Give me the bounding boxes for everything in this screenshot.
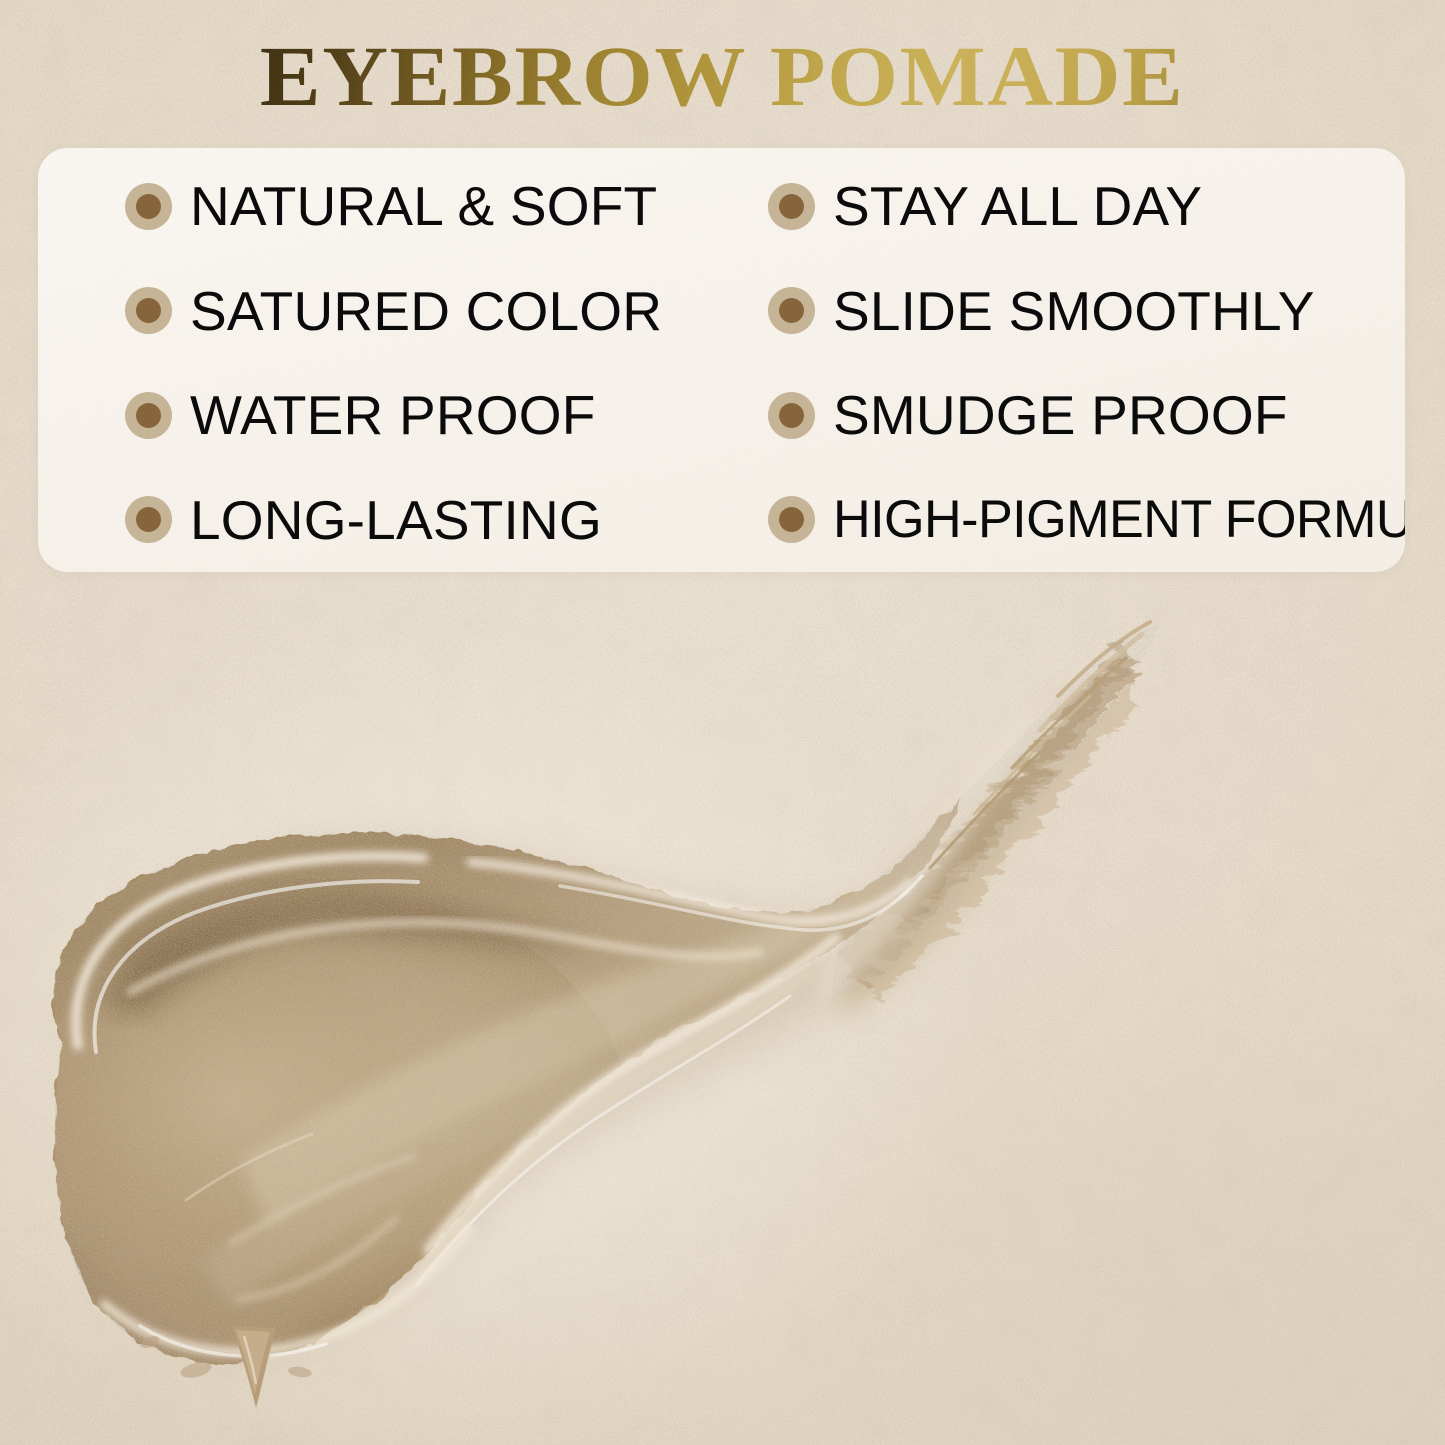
bullet-dot-icon bbox=[125, 183, 172, 230]
feature-label: HIGH-PIGMENT FORMULA bbox=[833, 491, 1405, 549]
bullet-dot-icon bbox=[768, 287, 815, 334]
feature-item-slide-smoothly[interactable]: SLIDE SMOOTHLY bbox=[723, 259, 1405, 364]
feature-item-satured-color[interactable]: SATURED COLOR bbox=[38, 259, 723, 364]
feature-item-long-lasting[interactable]: LONG-LASTING bbox=[38, 468, 723, 573]
bullet-dot-icon bbox=[768, 183, 815, 230]
feature-label: STAY ALL DAY bbox=[833, 177, 1202, 235]
feature-label: LONG-LASTING bbox=[190, 491, 602, 549]
feature-item-natural-and-soft[interactable]: NATURAL & SOFT bbox=[38, 154, 723, 259]
bullet-dot-icon bbox=[125, 392, 172, 439]
feature-item-stay-all-day[interactable]: STAY ALL DAY bbox=[723, 154, 1405, 259]
feature-item-smudge-proof[interactable]: SMUDGE PROOF bbox=[723, 363, 1405, 468]
title-container: EYEBROW POMADE bbox=[0, 22, 1445, 130]
feature-label: SATURED COLOR bbox=[190, 282, 662, 340]
feature-label: SMUDGE PROOF bbox=[833, 386, 1288, 444]
bullet-dot-icon bbox=[768, 392, 815, 439]
bullet-dot-icon bbox=[768, 496, 815, 543]
bullet-dot-icon bbox=[125, 496, 172, 543]
features-grid: NATURAL & SOFT STAY ALL DAY SATURED COLO… bbox=[38, 148, 1405, 572]
feature-label: WATER PROOF bbox=[190, 386, 596, 444]
feature-item-high-pigment-formula[interactable]: HIGH-PIGMENT FORMULA bbox=[723, 468, 1405, 573]
bullet-dot-icon bbox=[125, 287, 172, 334]
features-card: NATURAL & SOFT STAY ALL DAY SATURED COLO… bbox=[38, 148, 1405, 572]
feature-item-water-proof[interactable]: WATER PROOF bbox=[38, 363, 723, 468]
feature-label: SLIDE SMOOTHLY bbox=[833, 282, 1315, 340]
page-title: EYEBROW POMADE bbox=[260, 22, 1185, 130]
feature-label: NATURAL & SOFT bbox=[190, 177, 657, 235]
